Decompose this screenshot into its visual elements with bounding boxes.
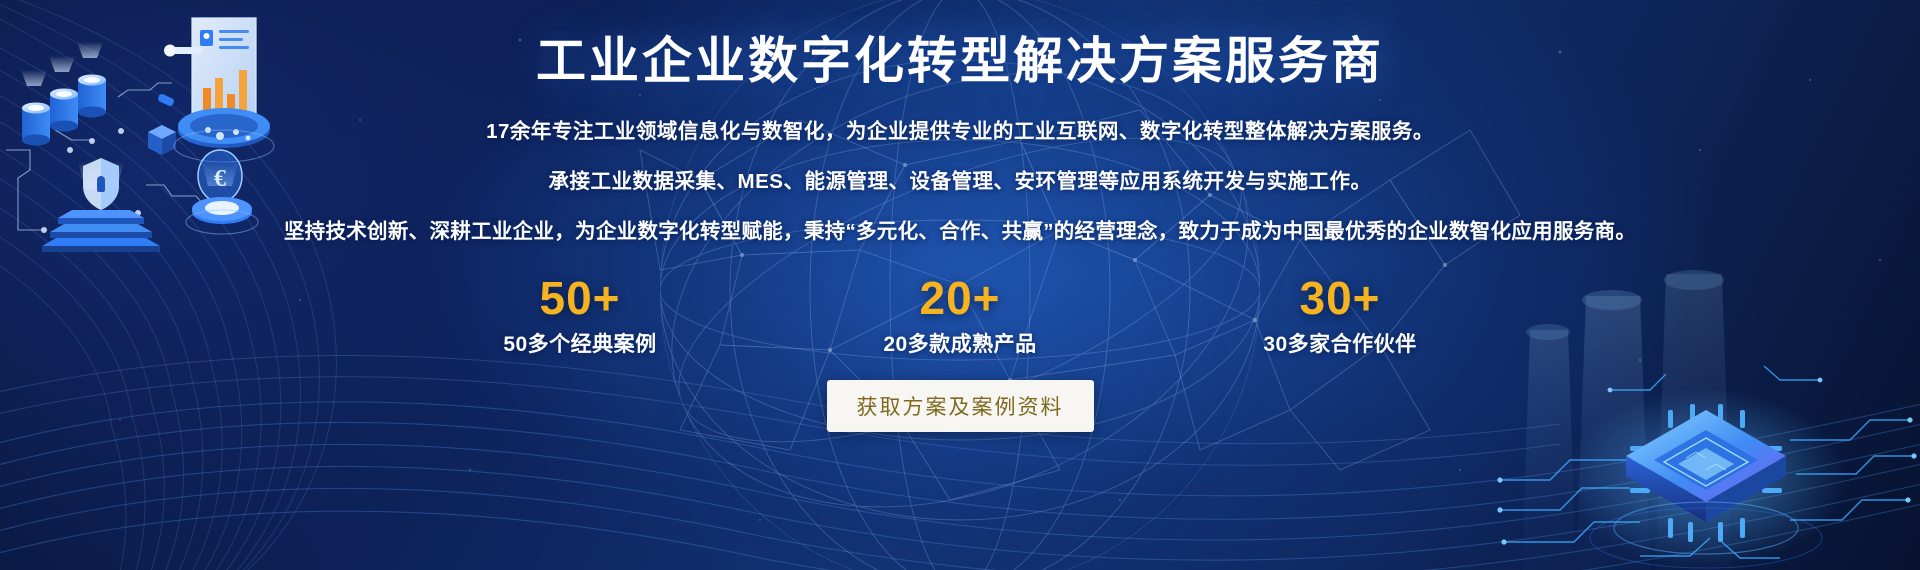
promo-banner: € bbox=[0, 0, 1920, 570]
subtitle-line-3: 坚持技术创新、深耕工业企业，为企业数字化转型赋能，秉持“多元化、合作、共赢”的经… bbox=[284, 214, 1636, 244]
stat-item-cases: 50+ 50多个经典案例 bbox=[475, 274, 685, 358]
stat-number: 30+ bbox=[1235, 274, 1445, 322]
banner-content: 工业企业数字化转型解决方案服务商 17余年专注工业领域信息化与数智化，为企业提供… bbox=[0, 0, 1920, 570]
stat-number: 20+ bbox=[855, 274, 1065, 322]
stat-label: 30多家合作伙伴 bbox=[1235, 328, 1445, 358]
stats-row: 50+ 50多个经典案例 20+ 20多款成熟产品 30+ 30多家合作伙伴 bbox=[475, 274, 1445, 358]
get-materials-button[interactable]: 获取方案及案例资料 bbox=[827, 380, 1094, 432]
stat-number: 50+ bbox=[475, 274, 685, 322]
stat-item-partners: 30+ 30多家合作伙伴 bbox=[1235, 274, 1445, 358]
page-title: 工业企业数字化转型解决方案服务商 bbox=[536, 36, 1384, 86]
stat-item-products: 20+ 20多款成熟产品 bbox=[855, 274, 1065, 358]
stat-label: 50多个经典案例 bbox=[475, 328, 685, 358]
subtitle-line-2: 承接工业数据采集、MES、能源管理、设备管理、安环管理等应用系统开发与实施工作。 bbox=[549, 164, 1372, 194]
stat-label: 20多款成熟产品 bbox=[855, 328, 1065, 358]
subtitle-line-1: 17余年专注工业领域信息化与数智化，为企业提供专业的工业互联网、数字化转型整体解… bbox=[486, 114, 1434, 144]
